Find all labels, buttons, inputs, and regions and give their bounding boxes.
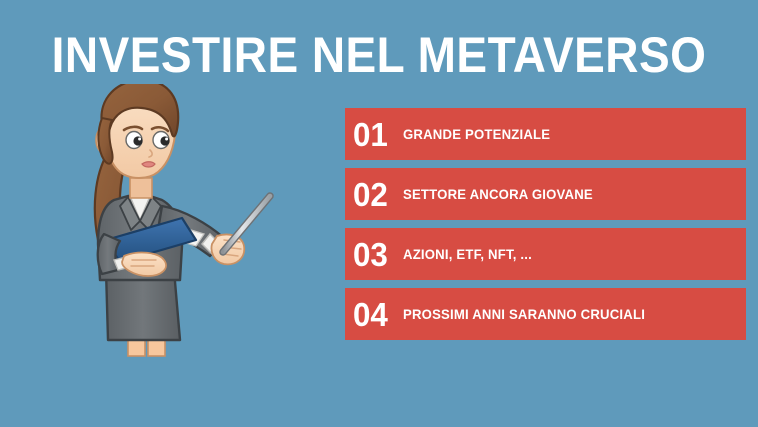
list-item-number: 03 (353, 238, 397, 271)
list-item-number: 02 (353, 178, 397, 211)
list-item[interactable]: 02 SETTORE ANCORA GIOVANE (345, 168, 746, 220)
slide-canvas: INVESTIRE NEL METAVERSO (0, 0, 758, 427)
list-item[interactable]: 03 AZIONI, ETF, NFT, ... (345, 228, 746, 280)
list-item[interactable]: 04 PROSSIMI ANNI SARANNO CRUCIALI (345, 288, 746, 340)
businesswoman-illustration (84, 84, 294, 364)
list-item-number: 04 (353, 298, 397, 331)
head (96, 84, 178, 178)
list-item[interactable]: 01 GRANDE POTENZIALE (345, 108, 746, 160)
pointer-stick (223, 196, 270, 252)
list-item-label: SETTORE ANCORA GIOVANE (403, 186, 593, 202)
numbered-list: 01 GRANDE POTENZIALE 02 SETTORE ANCORA G… (345, 108, 746, 340)
list-item-number: 01 (353, 118, 397, 151)
list-item-label: AZIONI, ETF, NFT, ... (403, 246, 532, 262)
list-item-label: PROSSIMI ANNI SARANNO CRUCIALI (403, 306, 645, 322)
page-title: INVESTIRE NEL METAVERSO (30, 26, 727, 84)
list-item-label: GRANDE POTENZIALE (403, 126, 550, 142)
neck (130, 178, 152, 198)
